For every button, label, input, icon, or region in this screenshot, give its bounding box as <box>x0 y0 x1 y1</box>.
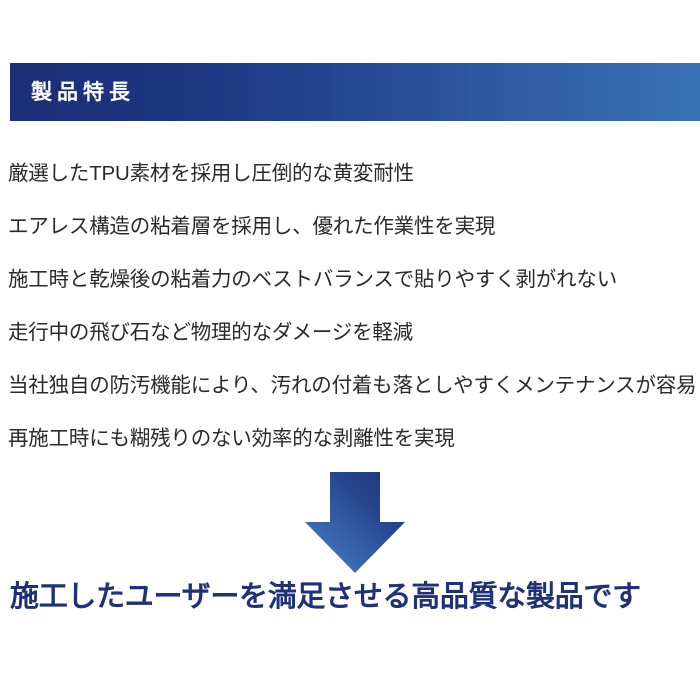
list-item: エアレス構造の粘着層を採用し、優れた作業性を実現 <box>8 201 698 254</box>
feature-text: 当社独自の防汚機能により、汚れの付着も落としやすくメンテナンスが容易 <box>8 376 696 397</box>
list-item: 走行中の飛び石など物理的なダメージを軽減 <box>8 307 698 360</box>
feature-text: 施工時と乾燥後の粘着力のベストバランスで貼りやすく剥がれない <box>8 270 617 291</box>
list-item: 当社独自の防汚機能により、汚れの付着も落としやすくメンテナンスが容易 <box>8 360 698 413</box>
conclusion-headline: 施工したユーザーを満足させる高品質な製品です <box>10 582 700 614</box>
list-item: 厳選したTPU素材を採用し圧倒的な黄変耐性 <box>8 148 698 201</box>
feature-text: エアレス構造の粘着層を採用し、優れた作業性を実現 <box>8 217 495 238</box>
feature-list: 厳選したTPU素材を採用し圧倒的な黄変耐性 エアレス構造の粘着層を採用し、優れた… <box>8 148 698 466</box>
list-item: 施工時と乾燥後の粘着力のベストバランスで貼りやすく剥がれない <box>8 254 698 307</box>
product-features-page: 製品特長 厳選したTPU素材を採用し圧倒的な黄変耐性 エアレス構造の粘着層を採用… <box>0 0 700 700</box>
section-header-banner: 製品特長 <box>10 63 700 121</box>
page-title: 製品特長 <box>10 82 135 103</box>
list-item: 再施工時にも糊残りのない効率的な剥離性を実現 <box>8 413 698 466</box>
feature-text: 走行中の飛び石など物理的なダメージを軽減 <box>8 323 413 344</box>
arrow-down-icon <box>305 472 405 573</box>
feature-text: 再施工時にも糊残りのない効率的な剥離性を実現 <box>8 429 455 450</box>
feature-text: 厳選したTPU素材を採用し圧倒的な黄変耐性 <box>8 164 414 185</box>
